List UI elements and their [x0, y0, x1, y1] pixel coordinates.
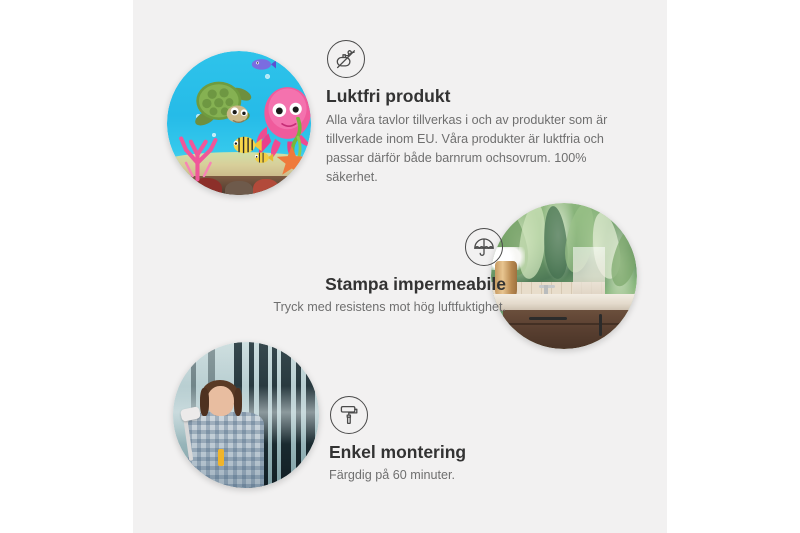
content-panel: Luktfri produkt Alla våra tavlor tillver…: [133, 0, 667, 533]
mirror-panel: [573, 247, 605, 297]
wood-cabinet: [503, 310, 637, 349]
hair-strand: [200, 388, 209, 417]
painter-forest-photo: [173, 342, 319, 488]
underwater-cartoon-photo: [167, 51, 311, 195]
person-figure: [185, 386, 264, 488]
no-spray-bottle-icon: [327, 40, 365, 78]
sea-turtle-shape: [187, 74, 253, 132]
hair-strand: [234, 388, 243, 417]
feature-description: Färgdig på 60 minuter.: [329, 466, 629, 485]
feature-easy-mounting: Enkel montering Färgdig på 60 minuter.: [329, 396, 629, 485]
drawer-divider: [503, 323, 637, 325]
promo-infographic: Luktfri produkt Alla våra tavlor tillver…: [0, 0, 800, 533]
fish-shape: [248, 55, 277, 74]
starfish-shape: [276, 143, 308, 178]
plaid-shirt: [188, 412, 264, 488]
feature-title: Enkel montering: [329, 441, 629, 464]
fish-shape: [253, 149, 273, 166]
feature-description: Tryck med resistens mot hög luftfuktighe…: [181, 298, 506, 317]
door-handle: [599, 314, 602, 337]
bathroom-wallpaper-photo: [491, 203, 637, 349]
feature-waterproof: Stampa impermeabile Tryck med resistens …: [181, 228, 506, 317]
paint-roller-icon: [330, 396, 368, 434]
hand-tool: [218, 449, 224, 465]
countertop: [491, 294, 637, 312]
coral-shape: [173, 126, 222, 184]
feature-title: Luktfri produkt: [326, 85, 626, 108]
bubble-icon: [265, 74, 270, 79]
umbrella-icon: [465, 228, 503, 266]
feature-description: Alla våra tavlor tillverkas i och av pro…: [326, 111, 626, 188]
face: [207, 386, 234, 417]
rock-shape: [253, 179, 279, 195]
feature-odorless: Luktfri produkt Alla våra tavlor tillver…: [326, 40, 626, 187]
feature-title: Stampa impermeabile: [181, 273, 506, 296]
rock-shape: [225, 181, 254, 195]
drawer-handle: [529, 317, 567, 320]
